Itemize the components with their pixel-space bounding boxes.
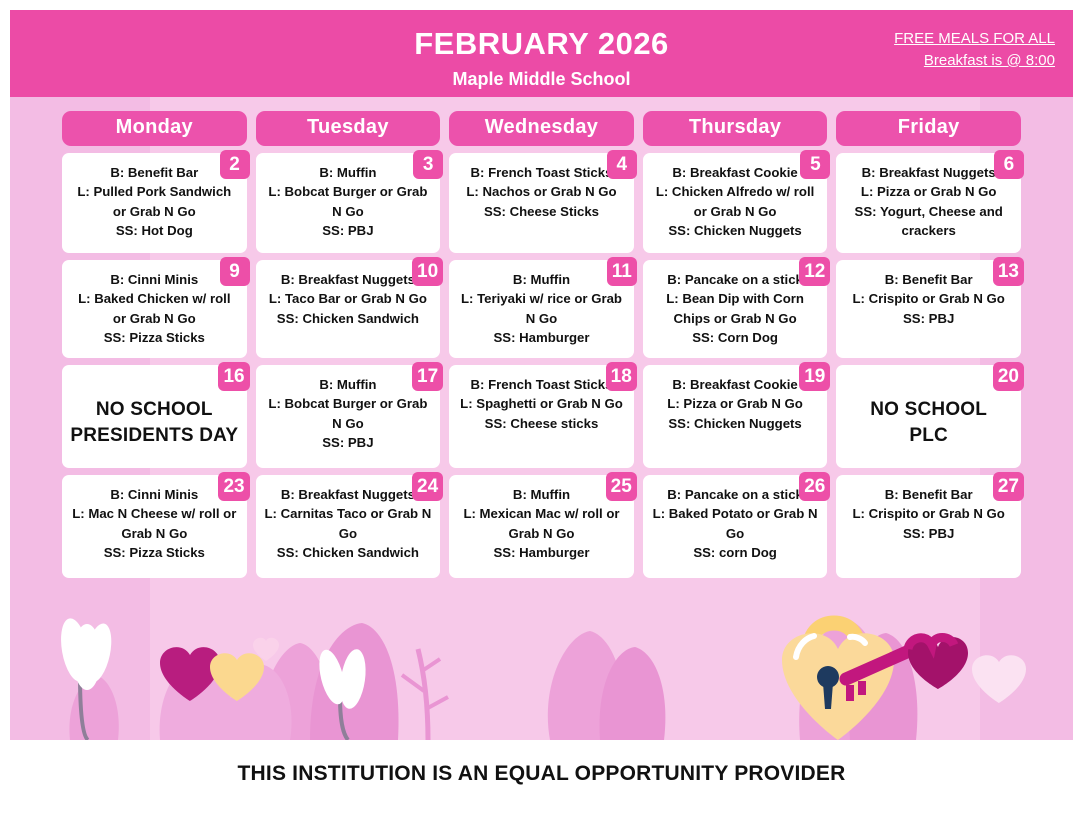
meal-line: B: Muffin xyxy=(264,163,433,182)
padlock-shackle xyxy=(810,623,858,647)
twig-shape xyxy=(422,659,440,671)
meal-line: B: Muffin xyxy=(457,270,626,289)
day-cell[interactable]: 25B: MuffinL: Mexican Mac w/ roll or Gra… xyxy=(449,475,634,578)
week-row: 23B: Cinni MinisL: Mac N Cheese w/ roll … xyxy=(62,475,1021,578)
twig-shape xyxy=(418,649,428,740)
meal-line: L: Bean Dip with Corn Chips or Grab N Go xyxy=(651,289,820,328)
meal-list: B: MuffinL: Teriyaki w/ rice or Grab N G… xyxy=(457,270,626,348)
day-number-badge: 2 xyxy=(220,150,250,179)
meal-line: SS: Cheese sticks xyxy=(457,414,626,433)
tulip-petal xyxy=(337,648,369,711)
meal-list: B: Breakfast CookieL: Chicken Alfredo w/… xyxy=(651,163,820,241)
meal-line: SS: Hot Dog xyxy=(70,221,239,240)
day-of-week-row: Monday Tuesday Wednesday Thursday Friday xyxy=(62,111,1021,146)
no-school-line: PRESIDENTS DAY xyxy=(70,423,239,449)
meal-line: L: Crispito or Grab N Go xyxy=(844,289,1013,308)
meal-line: L: Bobcat Burger or Grab N Go xyxy=(264,394,433,433)
day-number-badge: 20 xyxy=(993,362,1024,391)
meal-line: L: Teriyaki w/ rice or Grab N Go xyxy=(457,289,626,328)
menu-calendar-page: FEBRUARY 2026 Maple Middle School FREE M… xyxy=(0,0,1083,820)
day-number-badge: 16 xyxy=(218,362,249,391)
key-shaft xyxy=(846,647,918,679)
day-cell[interactable]: 24B: Breakfast NuggetsL: Carnitas Taco o… xyxy=(256,475,441,578)
meal-line: B: Pancake on a stick xyxy=(651,485,820,504)
day-number-badge: 26 xyxy=(799,472,830,501)
meal-line: SS: Chicken Nuggets xyxy=(651,221,820,240)
heart-yellow xyxy=(210,653,264,701)
bush-shape xyxy=(599,647,665,740)
week-row: 2B: Benefit BarL: Pulled Pork Sandwich o… xyxy=(62,153,1021,253)
heart-pale-pink xyxy=(253,638,279,661)
day-cell[interactable]: 13B: Benefit BarL: Crispito or Grab N Go… xyxy=(836,260,1021,358)
tulip-stem xyxy=(80,675,88,740)
bush-shape xyxy=(310,623,399,740)
meal-list: B: French Toast SticksL: Nachos or Grab … xyxy=(457,163,626,221)
no-school-notice: NO SCHOOLPLC xyxy=(844,397,1013,449)
meal-line: L: Mac N Cheese w/ roll or Grab N Go xyxy=(70,504,239,543)
padlock-body xyxy=(782,633,894,740)
weeks-container: 2B: Benefit BarL: Pulled Pork Sandwich o… xyxy=(62,153,1021,578)
meal-list: B: Benefit BarL: Pulled Pork Sandwich or… xyxy=(70,163,239,241)
meal-list: B: Breakfast NuggetsL: Pizza or Grab N G… xyxy=(844,163,1013,241)
day-number-badge: 11 xyxy=(607,257,637,286)
bush-shape xyxy=(69,675,118,740)
meal-list: B: MuffinL: Bobcat Burger or Grab N GoSS… xyxy=(264,375,433,453)
day-cell[interactable]: 17B: MuffinL: Bobcat Burger or Grab N Go… xyxy=(256,365,441,468)
day-cell[interactable]: 18B: French Toast SticksL: Spaghetti or … xyxy=(449,365,634,468)
meal-line: SS: Hamburger xyxy=(457,328,626,347)
bush-shape xyxy=(799,619,883,740)
meal-line: B: Breakfast Nuggets xyxy=(264,485,433,504)
meal-line: B: Benefit Bar xyxy=(844,270,1013,289)
equal-opportunity-statement: THIS INSTITUTION IS AN EQUAL OPPORTUNITY… xyxy=(0,762,1083,786)
meal-list: B: Pancake on a stickL: Baked Potato or … xyxy=(651,485,820,563)
meal-list: B: Cinni MinisL: Mac N Cheese w/ roll or… xyxy=(70,485,239,563)
meal-line: L: Chicken Alfredo w/ roll or Grab N Go xyxy=(651,182,820,221)
meal-list: B: French Toast SticksL: Spaghetti or Gr… xyxy=(457,375,626,433)
meal-line: SS: PBJ xyxy=(264,221,433,240)
day-number-badge: 4 xyxy=(607,150,637,179)
tulip-petal xyxy=(80,621,116,685)
meal-line: B: Breakfast Nuggets xyxy=(844,163,1013,182)
meal-line: B: Benefit Bar xyxy=(844,485,1013,504)
bush-shape xyxy=(160,657,234,740)
meal-line: L: Pulled Pork Sandwich or Grab N Go xyxy=(70,182,239,221)
dow-thursday: Thursday xyxy=(643,111,828,146)
key-bow-highlight xyxy=(908,638,954,650)
meal-line: B: Muffin xyxy=(457,485,626,504)
meal-line: SS: Pizza Sticks xyxy=(70,328,239,347)
bush-shape xyxy=(260,643,332,740)
meal-list: B: Breakfast CookieL: Pizza or Grab N Go… xyxy=(651,375,820,433)
day-cell[interactable]: 11B: MuffinL: Teriyaki w/ rice or Grab N… xyxy=(449,260,634,358)
meal-line: B: Pancake on a stick xyxy=(651,270,820,289)
meal-list: B: Pancake on a stickL: Bean Dip with Co… xyxy=(651,270,820,348)
meal-list: B: Benefit BarL: Crispito or Grab N GoSS… xyxy=(844,485,1013,543)
day-cell[interactable]: 20NO SCHOOLPLC xyxy=(836,365,1021,468)
meal-line: SS: Chicken Sandwich xyxy=(264,309,433,328)
day-cell[interactable]: 16NO SCHOOLPRESIDENTS DAY xyxy=(62,365,247,468)
day-number-badge: 9 xyxy=(220,257,250,286)
decorative-footer-art xyxy=(10,605,1073,740)
meal-list: B: Breakfast NuggetsL: Taco Bar or Grab … xyxy=(264,270,433,328)
padlock-keyhole-slot xyxy=(823,683,833,709)
meal-line: B: Breakfast Cookie xyxy=(651,163,820,182)
meal-line: L: Baked Chicken w/ roll or Grab N Go xyxy=(70,289,239,328)
dow-tuesday: Tuesday xyxy=(256,111,441,146)
meal-line: SS: PBJ xyxy=(264,433,433,452)
day-cell[interactable]: 2B: Benefit BarL: Pulled Pork Sandwich o… xyxy=(62,153,247,253)
day-cell[interactable]: 6B: Breakfast NuggetsL: Pizza or Grab N … xyxy=(836,153,1021,253)
tulip-stem xyxy=(340,697,348,740)
meal-line: B: French Toast Sticks xyxy=(457,163,626,182)
tulip-petal xyxy=(315,647,350,707)
meal-line: L: Pizza or Grab N Go xyxy=(844,182,1013,201)
day-number-badge: 12 xyxy=(799,257,830,286)
meal-line: B: Cinni Minis xyxy=(70,485,239,504)
free-meals-note: FREE MEALS FOR ALL Breakfast is @ 8:00 xyxy=(894,28,1055,72)
heart-white xyxy=(972,655,1026,703)
week-row: 16NO SCHOOLPRESIDENTS DAY17B: MuffinL: B… xyxy=(62,365,1021,468)
meal-list: B: MuffinL: Bobcat Burger or Grab N GoSS… xyxy=(264,163,433,241)
meal-line: L: Taco Bar or Grab N Go xyxy=(264,289,433,308)
day-number-badge: 27 xyxy=(993,472,1024,501)
day-number-badge: 17 xyxy=(412,362,443,391)
meal-list: B: Breakfast NuggetsL: Carnitas Taco or … xyxy=(264,485,433,563)
padlock-highlight xyxy=(796,636,814,657)
meal-line: SS: Pizza Sticks xyxy=(70,543,239,562)
meal-line: SS: Chicken Sandwich xyxy=(264,543,433,562)
meal-line: L: Carnitas Taco or Grab N Go xyxy=(264,504,433,543)
calendar-grid: Monday Tuesday Wednesday Thursday Friday… xyxy=(10,97,1073,578)
day-number-badge: 10 xyxy=(412,257,443,286)
day-cell[interactable]: 26B: Pancake on a stickL: Baked Potato o… xyxy=(643,475,828,578)
meal-line: SS: Chicken Nuggets xyxy=(651,414,820,433)
school-name: Maple Middle School xyxy=(10,69,1073,90)
tulip-petal xyxy=(57,616,94,684)
meal-line: B: Breakfast Cookie xyxy=(651,375,820,394)
day-cell[interactable]: 5B: Breakfast CookieL: Chicken Alfredo w… xyxy=(643,153,828,253)
bush-shape xyxy=(225,665,292,740)
meal-line: L: Mexican Mac w/ roll or Grab N Go xyxy=(457,504,626,543)
key-bow-heart xyxy=(908,637,968,689)
meal-line: B: French Toast Sticks xyxy=(457,375,626,394)
padlock-keyhole xyxy=(817,666,839,688)
heart-magenta xyxy=(160,647,220,701)
dow-wednesday: Wednesday xyxy=(449,111,634,146)
no-school-notice: NO SCHOOLPRESIDENTS DAY xyxy=(70,397,239,449)
meal-line: L: Crispito or Grab N Go xyxy=(844,504,1013,523)
twig-shape xyxy=(426,697,448,709)
meal-list: B: Cinni MinisL: Baked Chicken w/ roll o… xyxy=(70,270,239,348)
day-number-badge: 19 xyxy=(799,362,830,391)
meal-line: B: Cinni Minis xyxy=(70,270,239,289)
meal-line: L: Spaghetti or Grab N Go xyxy=(457,394,626,413)
day-number-badge: 13 xyxy=(993,257,1024,286)
breakfast-time-line: Breakfast is @ 8:00 xyxy=(894,50,1055,72)
calendar-poster: FEBRUARY 2026 Maple Middle School FREE M… xyxy=(10,10,1073,740)
poster-header: FEBRUARY 2026 Maple Middle School FREE M… xyxy=(10,10,1073,97)
meal-line: L: Pizza or Grab N Go xyxy=(651,394,820,413)
no-school-line: NO SCHOOL xyxy=(70,397,239,423)
no-school-line: PLC xyxy=(844,423,1013,449)
day-cell[interactable]: 27B: Benefit BarL: Crispito or Grab N Go… xyxy=(836,475,1021,578)
meal-line: B: Breakfast Nuggets xyxy=(264,270,433,289)
week-row: 9B: Cinni MinisL: Baked Chicken w/ roll … xyxy=(62,260,1021,358)
meal-line: L: Bobcat Burger or Grab N Go xyxy=(264,182,433,221)
meal-line: B: Muffin xyxy=(264,375,433,394)
day-number-badge: 5 xyxy=(800,150,830,179)
meal-line: SS: Corn Dog xyxy=(651,328,820,347)
day-cell[interactable]: 12B: Pancake on a stickL: Bean Dip with … xyxy=(643,260,828,358)
meal-list: B: MuffinL: Mexican Mac w/ roll or Grab … xyxy=(457,485,626,563)
free-meals-line: FREE MEALS FOR ALL xyxy=(894,28,1055,50)
meal-line: SS: Hamburger xyxy=(457,543,626,562)
meal-line: SS: corn Dog xyxy=(651,543,820,562)
tulip-petal xyxy=(73,624,101,690)
day-cell[interactable]: 10B: Breakfast NuggetsL: Taco Bar or Gra… xyxy=(256,260,441,358)
twig-shape xyxy=(402,675,424,691)
dow-monday: Monday xyxy=(62,111,247,146)
day-cell[interactable]: 19B: Breakfast CookieL: Pizza or Grab N … xyxy=(643,365,828,468)
padlock-highlight xyxy=(850,637,865,643)
day-number-badge: 25 xyxy=(606,472,637,501)
day-cell[interactable]: 23B: Cinni MinisL: Mac N Cheese w/ roll … xyxy=(62,475,247,578)
dow-friday: Friday xyxy=(836,111,1021,146)
meal-line: L: Nachos or Grab N Go xyxy=(457,182,626,201)
meal-line: B: Benefit Bar xyxy=(70,163,239,182)
meal-line: SS: PBJ xyxy=(844,309,1013,328)
day-cell[interactable]: 3B: MuffinL: Bobcat Burger or Grab N GoS… xyxy=(256,153,441,253)
bush-shape xyxy=(849,633,917,740)
meal-line: L: Baked Potato or Grab N Go xyxy=(651,504,820,543)
meal-line: SS: Yogurt, Cheese and crackers xyxy=(844,202,1013,241)
no-school-line: NO SCHOOL xyxy=(844,397,1013,423)
day-cell[interactable]: 9B: Cinni MinisL: Baked Chicken w/ roll … xyxy=(62,260,247,358)
day-number-badge: 24 xyxy=(412,472,443,501)
day-number-badge: 3 xyxy=(413,150,443,179)
bush-shape xyxy=(548,631,624,740)
day-number-badge: 6 xyxy=(994,150,1024,179)
day-number-badge: 23 xyxy=(218,472,249,501)
day-cell[interactable]: 4B: French Toast SticksL: Nachos or Grab… xyxy=(449,153,634,253)
day-number-badge: 18 xyxy=(606,362,637,391)
meal-line: SS: Cheese Sticks xyxy=(457,202,626,221)
meal-list: B: Benefit BarL: Crispito or Grab N GoSS… xyxy=(844,270,1013,328)
meal-line: SS: PBJ xyxy=(844,524,1013,543)
